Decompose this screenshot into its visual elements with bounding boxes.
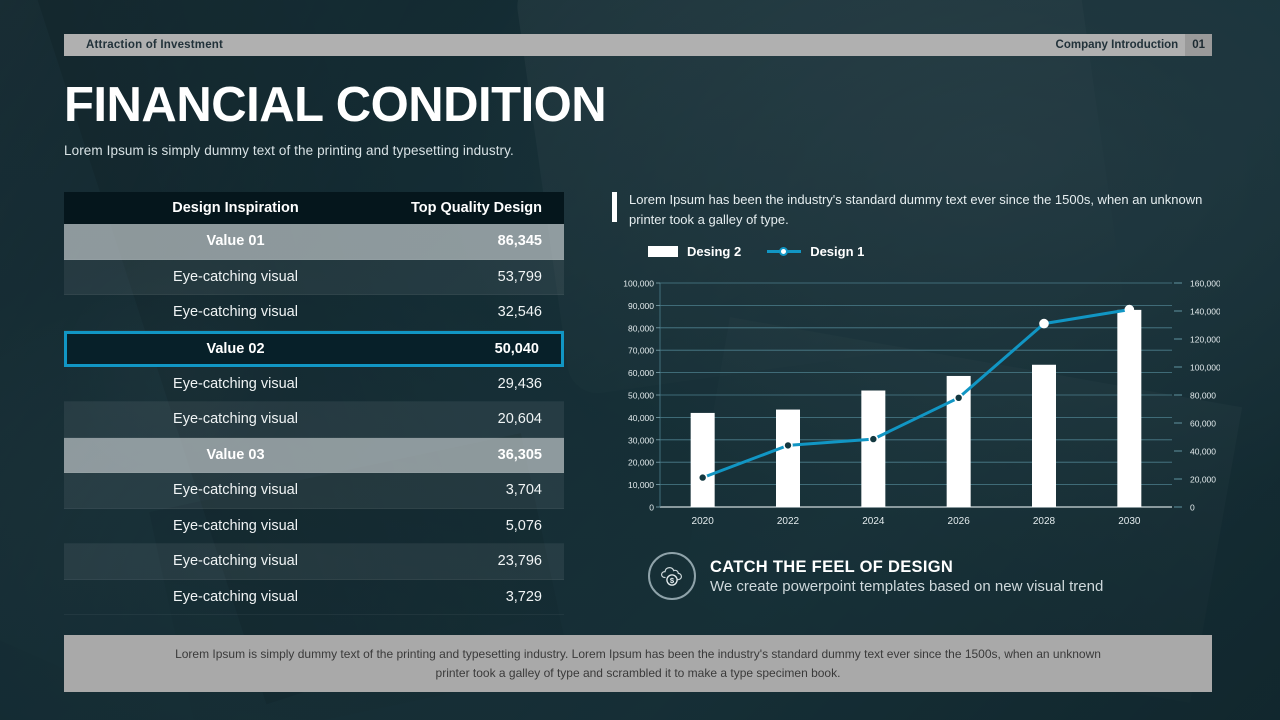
bar[interactable] [1032,365,1056,507]
legend-item-line[interactable]: Design 1 [767,244,864,259]
row-value: 3,704 [367,482,564,498]
slide: Attraction of Investment Company Introdu… [0,0,1280,720]
y-axis-tick-right: 40,000 [1190,447,1216,457]
row-value: 32,546 [367,304,564,320]
table-row[interactable]: Eye-catching visual23,796 [64,544,564,580]
page-number-badge: 01 [1185,34,1212,56]
cta-text: CATCH THE FEEL OF DESIGN We create power… [710,558,1103,595]
cta-block: $ CATCH THE FEEL OF DESIGN We create pow… [648,552,1103,600]
x-axis-tick: 2030 [1118,516,1141,525]
y-axis-tick-right: 0 [1190,503,1195,513]
y-axis-tick-left: 60,000 [628,368,654,378]
quote-text: Lorem Ipsum has been the industry's stan… [629,190,1212,230]
table-row[interactable]: Eye-catching visual53,799 [64,260,564,296]
table-header-row: Design Inspiration Top Quality Design [64,192,564,224]
cta-subtitle: We create powerpoint templates based on … [710,578,1103,595]
combo-chart: 010,00020,00030,00040,00050,00060,00070,… [612,275,1220,525]
cloud-money-glyph: $ [659,564,685,588]
data-point[interactable] [869,435,877,443]
y-axis-tick-right: 80,000 [1190,391,1216,401]
y-axis-tick-right: 20,000 [1190,475,1216,485]
table-row[interactable]: Eye-catching visual3,729 [64,580,564,616]
y-axis-tick-left: 100,000 [623,279,654,289]
table-row[interactable]: Value 0186,345 [64,224,564,260]
row-value: 53,799 [367,269,564,285]
table-row[interactable]: Eye-catching visual20,604 [64,402,564,438]
cloud-money-icon: $ [648,552,696,600]
bar[interactable] [691,413,715,507]
row-value: 5,076 [367,518,564,534]
row-label: Value 02 [67,341,364,357]
table-row[interactable]: Eye-catching visual32,546 [64,295,564,331]
y-axis-tick-left: 0 [649,503,654,513]
y-axis-tick-left: 30,000 [628,435,654,445]
x-axis-tick: 2024 [862,516,885,525]
row-value: 3,729 [367,589,564,605]
footer-text: Lorem Ipsum is simply dummy text of the … [173,645,1103,683]
y-axis-tick-right: 100,000 [1190,363,1220,373]
row-label: Eye-catching visual [64,589,367,605]
bar[interactable] [776,410,800,507]
chart-canvas: 010,00020,00030,00040,00050,00060,00070,… [612,275,1220,525]
y-axis-tick-left: 40,000 [628,413,654,423]
y-axis-tick-right: 160,000 [1190,279,1220,289]
row-value: 20,604 [367,411,564,427]
bar[interactable] [1117,310,1141,507]
legend-bar-swatch-icon [648,246,678,257]
row-value: 50,040 [364,341,561,357]
row-label: Eye-catching visual [64,518,367,534]
row-value: 86,345 [367,233,564,249]
page-title: FINANCIAL CONDITION [64,78,606,132]
y-axis-tick-left: 20,000 [628,458,654,468]
chart-legend: Desing 2 Design 1 [648,244,864,259]
top-bar-right: Company Introduction 01 [1056,34,1212,56]
table-row[interactable]: Value 0250,040 [64,331,564,367]
column-header-label: Design Inspiration [64,200,367,216]
row-label: Eye-catching visual [64,482,367,498]
financial-table: Design Inspiration Top Quality Design Va… [64,192,564,615]
table-row[interactable]: Eye-catching visual3,704 [64,473,564,509]
legend-line-marker-icon [767,246,801,257]
y-axis-tick-right: 120,000 [1190,335,1220,345]
row-value: 36,305 [367,447,564,463]
panel-quote: Lorem Ipsum has been the industry's stan… [612,190,1212,230]
data-point[interactable] [784,441,792,449]
y-axis-tick-left: 70,000 [628,346,654,356]
top-bar: Attraction of Investment Company Introdu… [64,34,1212,56]
section-label: Company Introduction [1056,39,1179,51]
data-point[interactable] [1125,306,1133,314]
data-point[interactable] [699,474,707,482]
legend-label: Desing 2 [687,244,741,259]
row-label: Value 01 [64,233,367,249]
line-series [703,310,1130,478]
table-row[interactable]: Eye-catching visual5,076 [64,509,564,545]
row-label: Eye-catching visual [64,411,367,427]
table-row[interactable]: Value 0336,305 [64,438,564,474]
legend-label: Design 1 [810,244,864,259]
bar[interactable] [861,391,885,507]
x-axis-tick: 2022 [777,516,800,525]
column-header-value: Top Quality Design [367,200,564,216]
y-axis-tick-left: 50,000 [628,391,654,401]
cta-title: CATCH THE FEEL OF DESIGN [710,558,1103,577]
row-value: 29,436 [367,376,564,392]
x-axis-tick: 2028 [1033,516,1056,525]
footer-bar: Lorem Ipsum is simply dummy text of the … [64,635,1212,692]
breadcrumb-label: Attraction of Investment [86,39,223,51]
page-subtitle: Lorem Ipsum is simply dummy text of the … [64,143,514,158]
legend-item-bar[interactable]: Desing 2 [648,244,741,259]
y-axis-tick-left: 90,000 [628,301,654,311]
x-axis-tick: 2026 [948,516,971,525]
row-label: Eye-catching visual [64,304,367,320]
quote-accent-bar [612,192,617,222]
svg-text:$: $ [670,576,675,585]
row-value: 23,796 [367,553,564,569]
table-body: Value 0186,345Eye-catching visual53,799E… [64,224,564,615]
y-axis-tick-right: 60,000 [1190,419,1216,429]
y-axis-tick-left: 10,000 [628,480,654,490]
y-axis-tick-right: 140,000 [1190,307,1220,317]
row-label: Eye-catching visual [64,269,367,285]
x-axis-tick: 2020 [692,516,715,525]
row-label: Eye-catching visual [64,553,367,569]
data-point[interactable] [1040,320,1048,328]
table-row[interactable]: Eye-catching visual29,436 [64,367,564,403]
row-label: Value 03 [64,447,367,463]
data-point[interactable] [955,394,963,402]
row-label: Eye-catching visual [64,376,367,392]
y-axis-tick-left: 80,000 [628,323,654,333]
